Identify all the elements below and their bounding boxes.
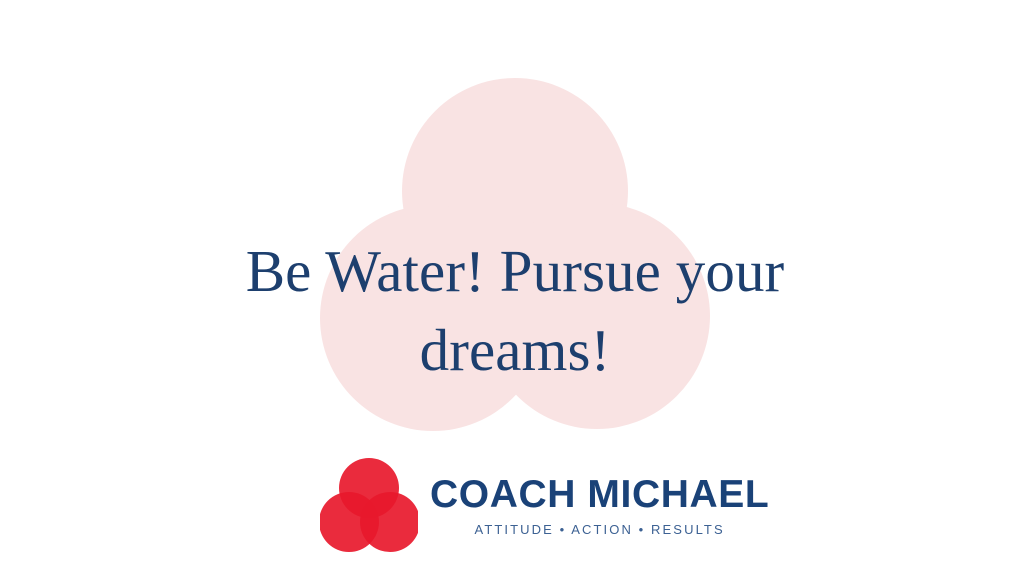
brand-logo: COACH MICHAEL ATTITUDE • ACTION • RESULT… [320, 455, 730, 555]
slide-canvas: Be Water! Pursue your dreams! COACH MICH… [0, 0, 1030, 579]
headline-text: Be Water! Pursue your dreams! [0, 232, 1030, 390]
logo-text-block: COACH MICHAEL ATTITUDE • ACTION • RESULT… [430, 475, 769, 536]
logo-brand-name: COACH MICHAEL [430, 475, 769, 514]
logo-mark-circles [320, 458, 418, 553]
logo-circle-bottom-right [360, 492, 418, 552]
logo-tagline: ATTITUDE • ACTION • RESULTS [475, 523, 725, 536]
